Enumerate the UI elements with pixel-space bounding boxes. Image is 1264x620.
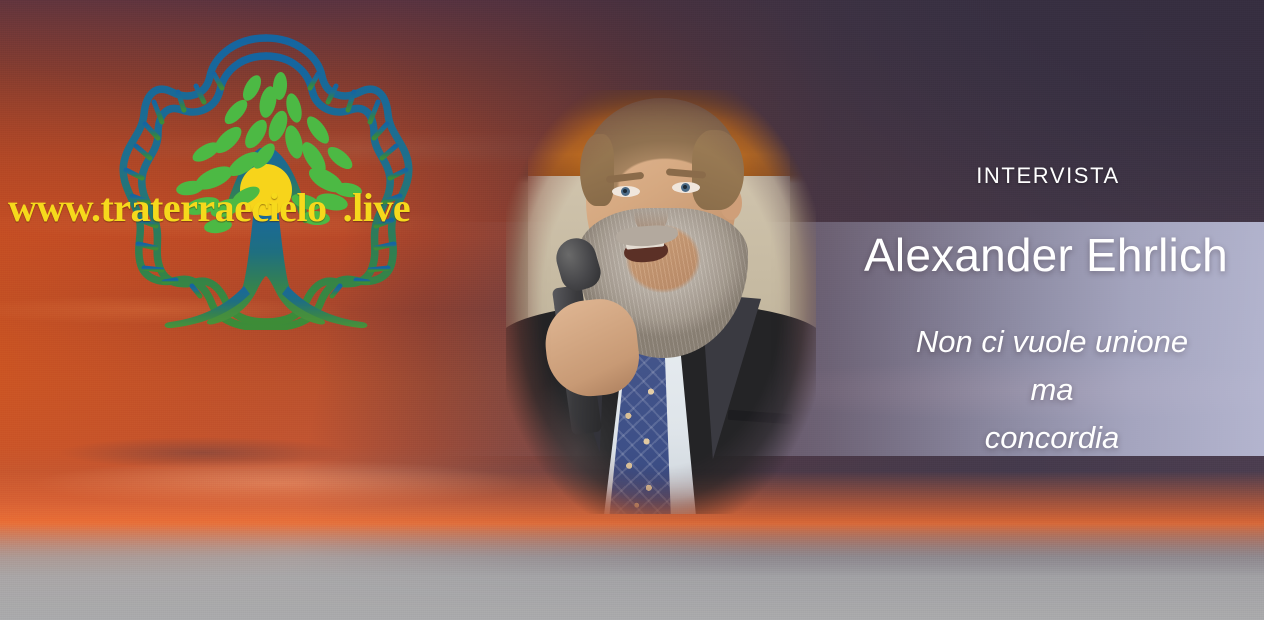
wordmark-name: traterraecielo	[100, 185, 326, 230]
site-logo[interactable]	[118, 30, 414, 330]
quote-block: Non ci vuole unione ma concordia	[856, 318, 1248, 462]
guest-portrait-image	[506, 90, 816, 514]
kicker-label: INTERVISTA	[880, 163, 1216, 189]
pupil-right	[681, 183, 690, 192]
wordmark-tld: .live	[343, 185, 410, 230]
hair-right	[692, 130, 744, 210]
eye-left	[612, 186, 640, 197]
poster-canvas: www.traterraecielo.live	[0, 0, 1264, 620]
wordmark-prefix: www.	[8, 185, 100, 230]
quote-line-3: concordia	[856, 414, 1248, 462]
pupil-left	[621, 187, 630, 196]
quote-line-2: ma	[856, 366, 1248, 414]
guest-name: Alexander Ehrlich	[836, 228, 1256, 282]
quote-line-1: Non ci vuole unione	[856, 318, 1248, 366]
guest-portrait	[506, 90, 816, 514]
hair-left	[580, 134, 614, 206]
logo-wordmark[interactable]: www.traterraecielo.live	[8, 186, 506, 230]
eye-right	[672, 182, 700, 193]
